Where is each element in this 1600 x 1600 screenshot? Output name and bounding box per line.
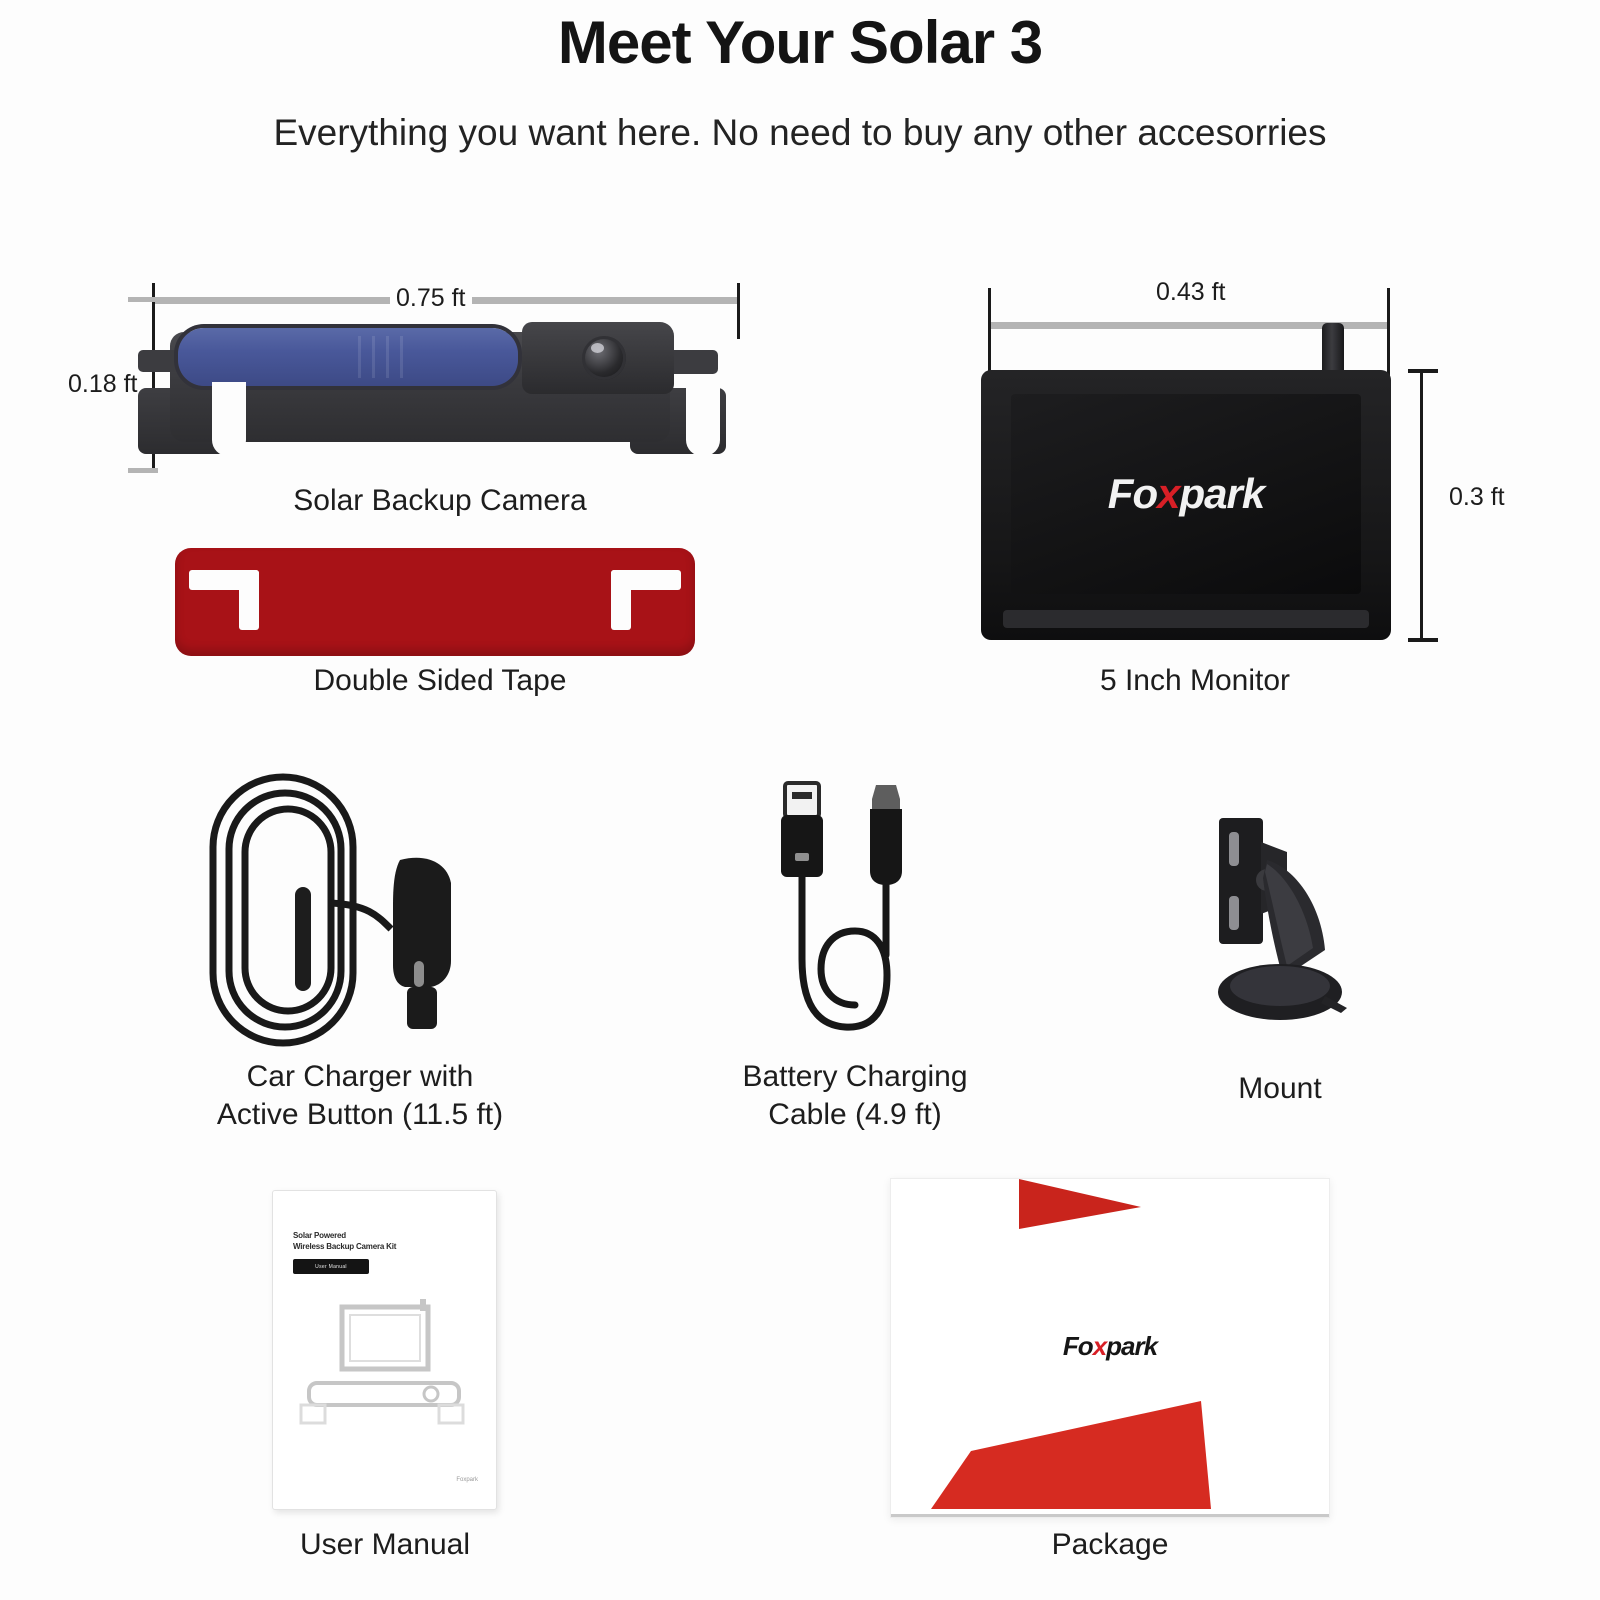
- manual-illustration: Solar Powered Wireless Backup Camera Kit…: [272, 1190, 497, 1510]
- product-infographic: Meet Your Solar 3 Everything you want he…: [0, 0, 1600, 1600]
- camera-illustration: [130, 270, 750, 500]
- brand-logo: Foxpark: [1108, 470, 1264, 518]
- page-subtitle: Everything you want here. No need to buy…: [0, 112, 1600, 154]
- mount-caption: Mount: [1140, 1070, 1420, 1108]
- tape-cutout-left: [189, 570, 259, 630]
- manual-caption: User Manual: [205, 1526, 565, 1564]
- tape-cutout-right: [611, 570, 681, 630]
- monitor-caption: 5 Inch Monitor: [975, 662, 1415, 700]
- car-charger-icon: [195, 765, 525, 1055]
- charger-illustration: [195, 765, 525, 1055]
- mount-illustration: [1175, 800, 1385, 1030]
- charger-caption: Car Charger with Active Button (11.5 ft): [160, 1058, 560, 1133]
- manual-cover-footer: Foxpark: [456, 1477, 478, 1483]
- manual-cover-title: Solar Powered Wireless Backup Camera Kit: [293, 1231, 396, 1253]
- camera-bracket-notch-left: [212, 382, 246, 456]
- package-base-shadow: [891, 1514, 1330, 1518]
- cable-illustration: [755, 775, 955, 1045]
- mount-icon: [1175, 800, 1385, 1030]
- manual-cover: Solar Powered Wireless Backup Camera Kit…: [272, 1190, 497, 1510]
- package-illustration: Foxpark: [890, 1178, 1330, 1518]
- package-box: Foxpark: [890, 1178, 1330, 1518]
- package-brand-logo: Foxpark: [1063, 1331, 1157, 1362]
- page-title: Meet Your Solar 3: [0, 8, 1600, 77]
- monitor-illustration: Foxpark: [975, 268, 1535, 668]
- usb-cable-icon: [755, 775, 955, 1045]
- package-caption: Package: [930, 1526, 1290, 1564]
- manual-cover-badge: User Manual: [293, 1259, 369, 1274]
- cable-caption: Battery Charging Cable (4.9 ft): [680, 1058, 1030, 1133]
- camera-caption: Solar Backup Camera: [130, 482, 750, 520]
- camera-lens-icon: [582, 336, 626, 380]
- monitor-bezel-bottom: [1003, 610, 1369, 628]
- camera-bracket-notch-right: [686, 382, 720, 456]
- monitor-case: Foxpark: [981, 370, 1391, 640]
- tape-caption: Double Sided Tape: [130, 662, 750, 700]
- solar-panel-strip: [178, 328, 518, 386]
- manual-cover-diagram: [273, 1295, 498, 1445]
- tape-illustration: [175, 548, 695, 656]
- monitor-screen: Foxpark: [1011, 394, 1361, 594]
